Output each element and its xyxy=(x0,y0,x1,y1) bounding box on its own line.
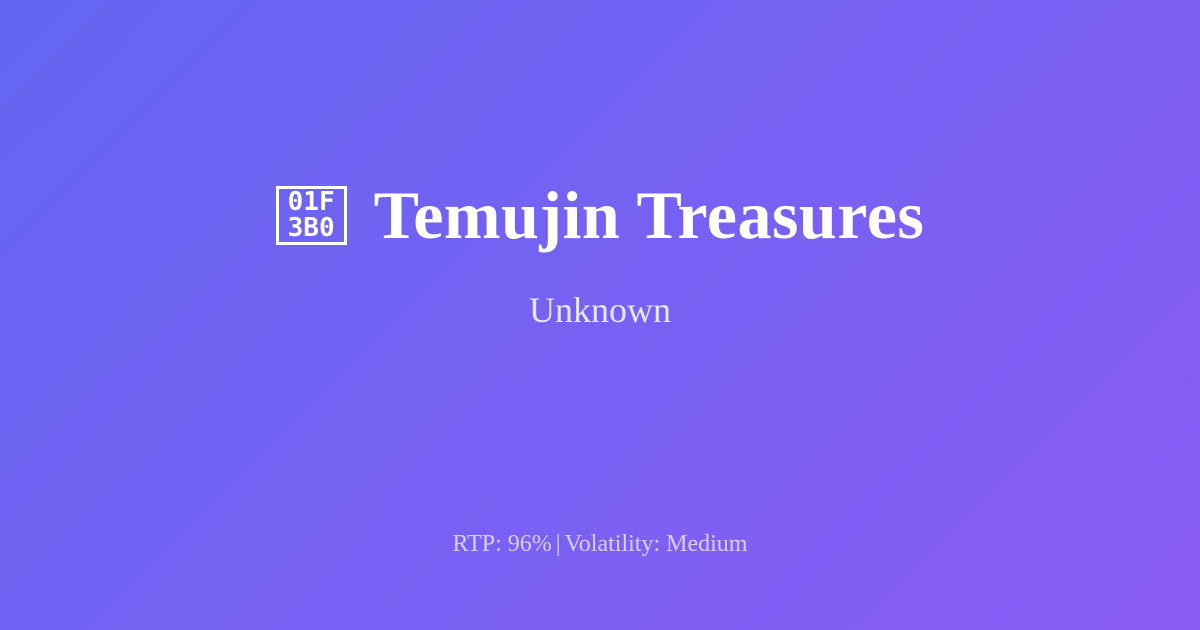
page-title: Temujin Treasures xyxy=(374,176,925,254)
rtp-value: RTP: 96% xyxy=(453,531,552,557)
title-row: 01F 3B0 Temujin Treasures xyxy=(276,176,925,254)
hero-block: 01F 3B0 Temujin Treasures Unknown xyxy=(0,0,1200,508)
codepoint-bottom: 3B0 xyxy=(288,215,335,241)
volatility-value: Volatility: Medium xyxy=(565,531,748,557)
codepoint-top: 01F xyxy=(288,189,335,215)
slot-machine-icon: 01F 3B0 xyxy=(276,186,347,245)
game-provider: Unknown xyxy=(529,288,671,332)
meta-separator: | xyxy=(552,531,565,557)
og-preview-card: 01F 3B0 Temujin Treasures Unknown RTP: 9… xyxy=(0,0,1200,630)
game-meta-line: RTP: 96%|Volatility: Medium xyxy=(0,529,1200,559)
